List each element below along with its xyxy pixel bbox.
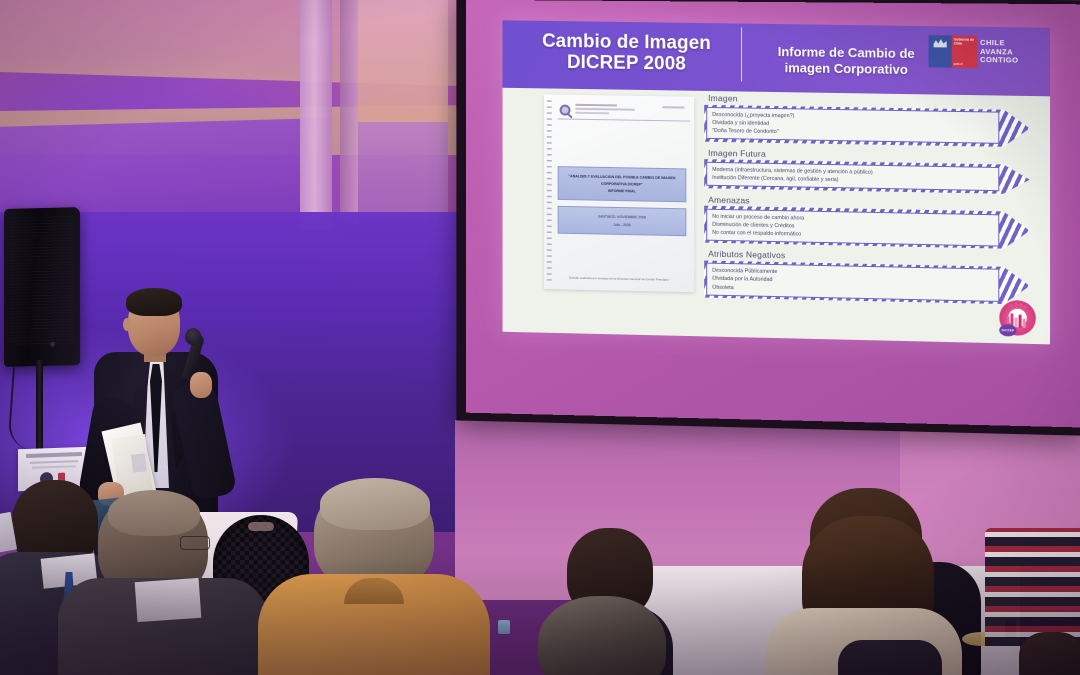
slide-subtitle: Informe de Cambio de imagen Corporativo: [756, 44, 937, 78]
report-title-line2: CORPORATIVA DICREP": [601, 182, 643, 187]
report-date-line: Julio - 2008: [613, 223, 630, 227]
slide-subtitle-line1: Informe de Cambio de: [756, 44, 937, 62]
gov-logo-blocks: Gobierno de Chile gob.cl: [929, 35, 977, 68]
placard-text-line-2: [32, 465, 76, 469]
pa-speaker: [4, 207, 80, 367]
arrow-band: Desconocida Públicamente Olvidada por la…: [704, 260, 1029, 304]
arrow-block-imagen-futura: Imagen Futura Moderna (infraestructura, …: [704, 148, 1029, 195]
chile-emblem-icon: [934, 38, 947, 47]
report-title-line3: INFORME FINAL: [608, 189, 636, 194]
arrow-band: Moderna (infraestructura, sistemas de ge…: [704, 159, 1029, 194]
audience-head: [538, 596, 666, 675]
report-author-line: SANTIAGO, NOVIEMBRE 2008: [598, 215, 646, 220]
arrow-block-atributos-negativos: Atributos Negativos Desconocida Públicam…: [704, 249, 1029, 305]
speaker-cable: [7, 367, 41, 451]
audience-member-2: [62, 492, 252, 675]
report-subtitle-box: SANTIAGO, NOVIEMBRE 2008 Julio - 2008: [558, 206, 687, 236]
slide-title-line2: DICREP 2008: [520, 52, 733, 76]
audience-member-6: [760, 488, 970, 675]
gov-tagline-line3: CONTIGO: [980, 56, 1018, 65]
presenter-hair: [126, 288, 182, 316]
header-divider: [741, 28, 742, 82]
dicrep-logo-badge: DICREP: [999, 324, 1016, 336]
report-header-line-3: [575, 112, 609, 114]
dicrep-logo: DICREP: [997, 297, 1038, 338]
wall-alcove-upper: [358, 0, 448, 125]
arrow-block-amenazas: Amenazas No iniciar un proceso de cambio…: [704, 194, 1029, 249]
eyeglasses-icon: [180, 536, 210, 550]
gov-logo-block-sub: gob.cl: [954, 62, 963, 65]
magnifier-handle-icon: [567, 113, 573, 119]
gov-logo-tagline: CHILE AVANZA CONTIGO: [980, 39, 1018, 66]
slide-header: Cambio de Imagen DICREP 2008 Informe de …: [503, 20, 1050, 96]
report-cover-thumbnail: "ANALISIS Y EVALUACION DEL POSIBLE CAMBI…: [544, 94, 694, 292]
arrow-content: No iniciar un proceso de cambio ahora Di…: [706, 208, 999, 246]
placard-text-line-1: [30, 460, 78, 464]
patterned-scarf: [985, 528, 1080, 646]
arrow-content: Desconocida (¿proyecta imagen?) Olvidada…: [706, 107, 999, 144]
structural-beam-primary: [300, 0, 332, 230]
audience-inner-garment: [838, 640, 942, 675]
government-of-chile-logo: Gobierno de Chile gob.cl CHILE AVANZA CO…: [929, 32, 1038, 72]
arrow-shape: Desconocida Públicamente Olvidada por la…: [704, 260, 1029, 304]
gov-logo-blue-block: [929, 35, 952, 67]
report-header-line-1: [575, 104, 617, 107]
report-header-line-right: [662, 106, 684, 108]
arrow-shape: No iniciar un proceso de cambio ahora Di…: [704, 206, 1029, 250]
arrow-content: Desconocida Públicamente Olvidada por la…: [706, 263, 999, 302]
speaker-grill: [10, 215, 74, 345]
speaker-led-indicator: [50, 342, 55, 347]
spiral-binding: [547, 100, 552, 283]
placard-title-line: [26, 452, 82, 458]
report-header-line-2: [575, 108, 634, 110]
arrow-block-imagen: Imagen Desconocida (¿proyecta imagen?) O…: [704, 93, 1029, 147]
audience-head: [1019, 632, 1080, 675]
slide-title-line1: Cambio de Imagen: [520, 30, 733, 54]
presenter-hand-right: [190, 372, 212, 398]
dicrep-logo-dots: [1009, 302, 1025, 309]
report-footer: Estudio realizado por encargo de la Dire…: [544, 275, 694, 282]
presentation-slide: Cambio de Imagen DICREP 2008 Informe de …: [503, 20, 1050, 344]
gov-logo-block-label: Gobierno de Chile: [954, 38, 974, 46]
audience-member-7: [985, 528, 1080, 675]
arrow-band: Desconocida (¿proyecta imagen?) Olvidada…: [704, 104, 1029, 147]
slide-subtitle-line2: imagen Corporativo: [756, 59, 937, 77]
report-title-line1: "ANALISIS Y EVALUACION DEL POSIBLE CAMBI…: [568, 174, 675, 180]
presenter-ear: [123, 318, 131, 331]
arrow-shape: Desconocida (¿proyecta imagen?) Olvidada…: [704, 104, 1029, 147]
audience-member-3: [258, 482, 488, 675]
gov-logo-red-block: Gobierno de Chile gob.cl: [952, 35, 977, 68]
audience-collar: [135, 578, 202, 622]
arrow-shape: Moderna (infraestructura, sistemas de ge…: [704, 159, 1029, 194]
audience-hair: [108, 490, 200, 536]
arrow-block-list: Imagen Desconocida (¿proyecta imagen?) O…: [704, 93, 1029, 311]
audience-hair: [320, 478, 430, 530]
drink-cup: [498, 620, 510, 634]
arrow-content: Moderna (infraestructura, sistemas de ge…: [706, 162, 999, 192]
structural-beam-secondary: [340, 0, 358, 225]
audience-foreground: [0, 470, 1080, 675]
report-title-box: "ANALISIS Y EVALUACION DEL POSIBLE CAMBI…: [558, 166, 687, 202]
arrow-band: No iniciar un proceso de cambio ahora Di…: [704, 206, 1029, 250]
audience-member-5: [512, 596, 702, 675]
scene-root: Cambio de Imagen DICREP 2008 Informe de …: [0, 0, 1080, 675]
slide-title: Cambio de Imagen DICREP 2008: [520, 30, 733, 75]
slide-body: "ANALISIS Y EVALUACION DEL POSIBLE CAMBI…: [503, 88, 1050, 345]
